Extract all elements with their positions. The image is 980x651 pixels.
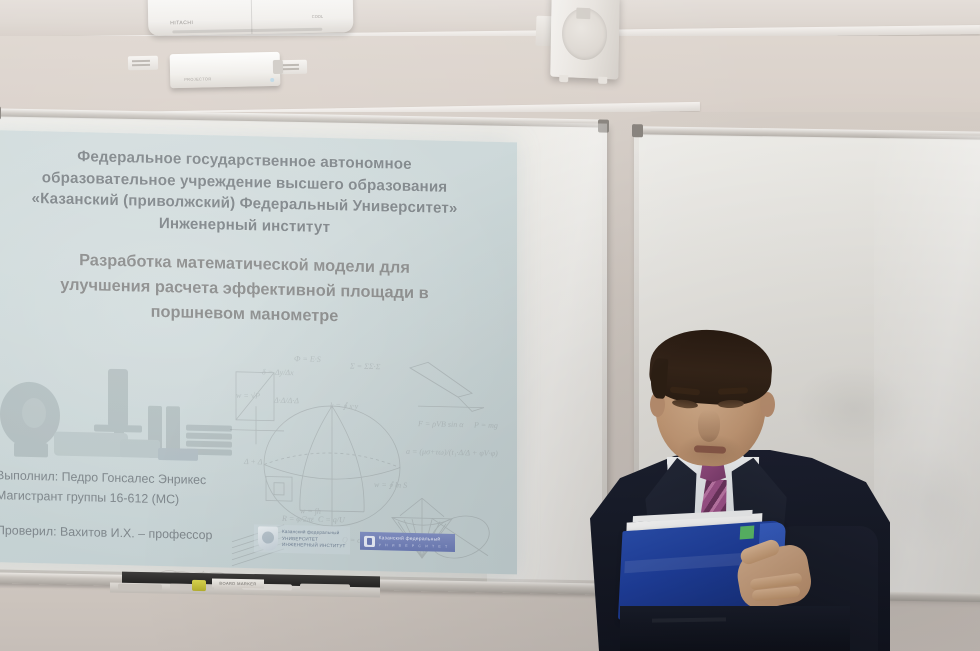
- svg-text:k = ∮ x·y: k = ∮ x·y: [330, 401, 359, 411]
- svg-text:Δ·Δ/Δ·Δ: Δ·Δ/Δ·Δ: [273, 396, 299, 406]
- projector-mount-left: [128, 56, 158, 71]
- screenshot-root: HITACHI COOL PROJECTOR Ф: [0, 0, 980, 651]
- speaker-foot: [559, 75, 568, 82]
- marker-box-label: BOARD MARKER: [212, 579, 264, 589]
- kfu-crest-icon: [258, 526, 278, 550]
- speaker-icon: [550, 0, 619, 79]
- kfu-logo-text: Казанский федеральный УНИВЕРСИТЕТ ИНЖЕНЕ…: [282, 529, 346, 551]
- projected-slide: Федеральное государственное автономное о…: [0, 130, 517, 575]
- folder-sticky-tab: [740, 525, 755, 539]
- whiteboard-corner: [598, 119, 609, 132]
- kfu-banner-logo: Казанский федеральный У Н И В Е Р С И Т …: [360, 532, 455, 551]
- eraser-icon[interactable]: [192, 580, 206, 591]
- svg-text:P = mg: P = mg: [473, 420, 498, 430]
- whiteboard-corner: [632, 124, 643, 137]
- svg-text:δ = Δy/Δx: δ = Δy/Δx: [262, 367, 294, 377]
- slide-logo-row: Казанский федеральный УНИВЕРСИТЕТ ИНЖЕНЕ…: [254, 524, 455, 557]
- speaker-logo: [576, 8, 590, 20]
- ac-side-label: COOL: [312, 14, 323, 19]
- svg-text:Δ + Δ: Δ + Δ: [243, 457, 263, 466]
- hair: [648, 326, 775, 408]
- marker-icon[interactable]: [118, 584, 162, 591]
- svg-text:Σ = ΣΣ·Σ: Σ = ΣΣ·Σ: [349, 361, 381, 371]
- presenter: [590, 330, 890, 651]
- kfu-banner-line-2: У Н И В Е Р С И Т Е Т: [379, 543, 449, 549]
- projector-icon: PROJECTOR: [170, 52, 281, 88]
- ac-vent: [172, 28, 322, 34]
- speaker-foot: [598, 77, 607, 84]
- projector-led-icon: [270, 78, 274, 82]
- slide-organization-block: Федеральное государственное автономное о…: [0, 130, 517, 243]
- ac-brand-label: HITACHI: [170, 20, 193, 26]
- kfu-logo-line-3: ИНЖЕНЕРНЫЙ ИНСТИТУТ: [282, 542, 346, 550]
- air-conditioner-icon: HITACHI COOL: [148, 0, 354, 36]
- projector-lens-icon: [273, 60, 283, 74]
- svg-text:a = (μσ+τω)/(t₁·Δ/Δ + φV·φ): a = (μσ+τω)/(t₁·Δ/Δ + φV·φ): [406, 447, 498, 458]
- marker-icon[interactable]: [300, 584, 350, 591]
- whiteboard-smudge: [884, 444, 974, 555]
- kfu-logo: Казанский федеральный УНИВЕРСИТЕТ ИНЖЕНЕ…: [254, 524, 350, 554]
- piston-manometer-photo: фотография поршневого манометра: [0, 358, 240, 484]
- torso-lower: [620, 606, 850, 651]
- whiteboard-corner: [0, 106, 1, 119]
- wall-lower: [0, 588, 640, 651]
- kfu-banner-text: Казанский федеральный У Н И В Е Р С И Т …: [379, 536, 449, 549]
- svg-text:w = √P: w = √P: [236, 391, 260, 401]
- projector-body-label: PROJECTOR: [184, 76, 211, 82]
- svg-text:F = ρVB sin α: F = ρVB sin α: [417, 419, 464, 429]
- kfu-banner-mark-icon: [364, 535, 375, 546]
- slide-title-block: Разработка математической модели для улу…: [0, 230, 517, 333]
- svg-text:Ф = E·S: Ф = E·S: [294, 354, 321, 364]
